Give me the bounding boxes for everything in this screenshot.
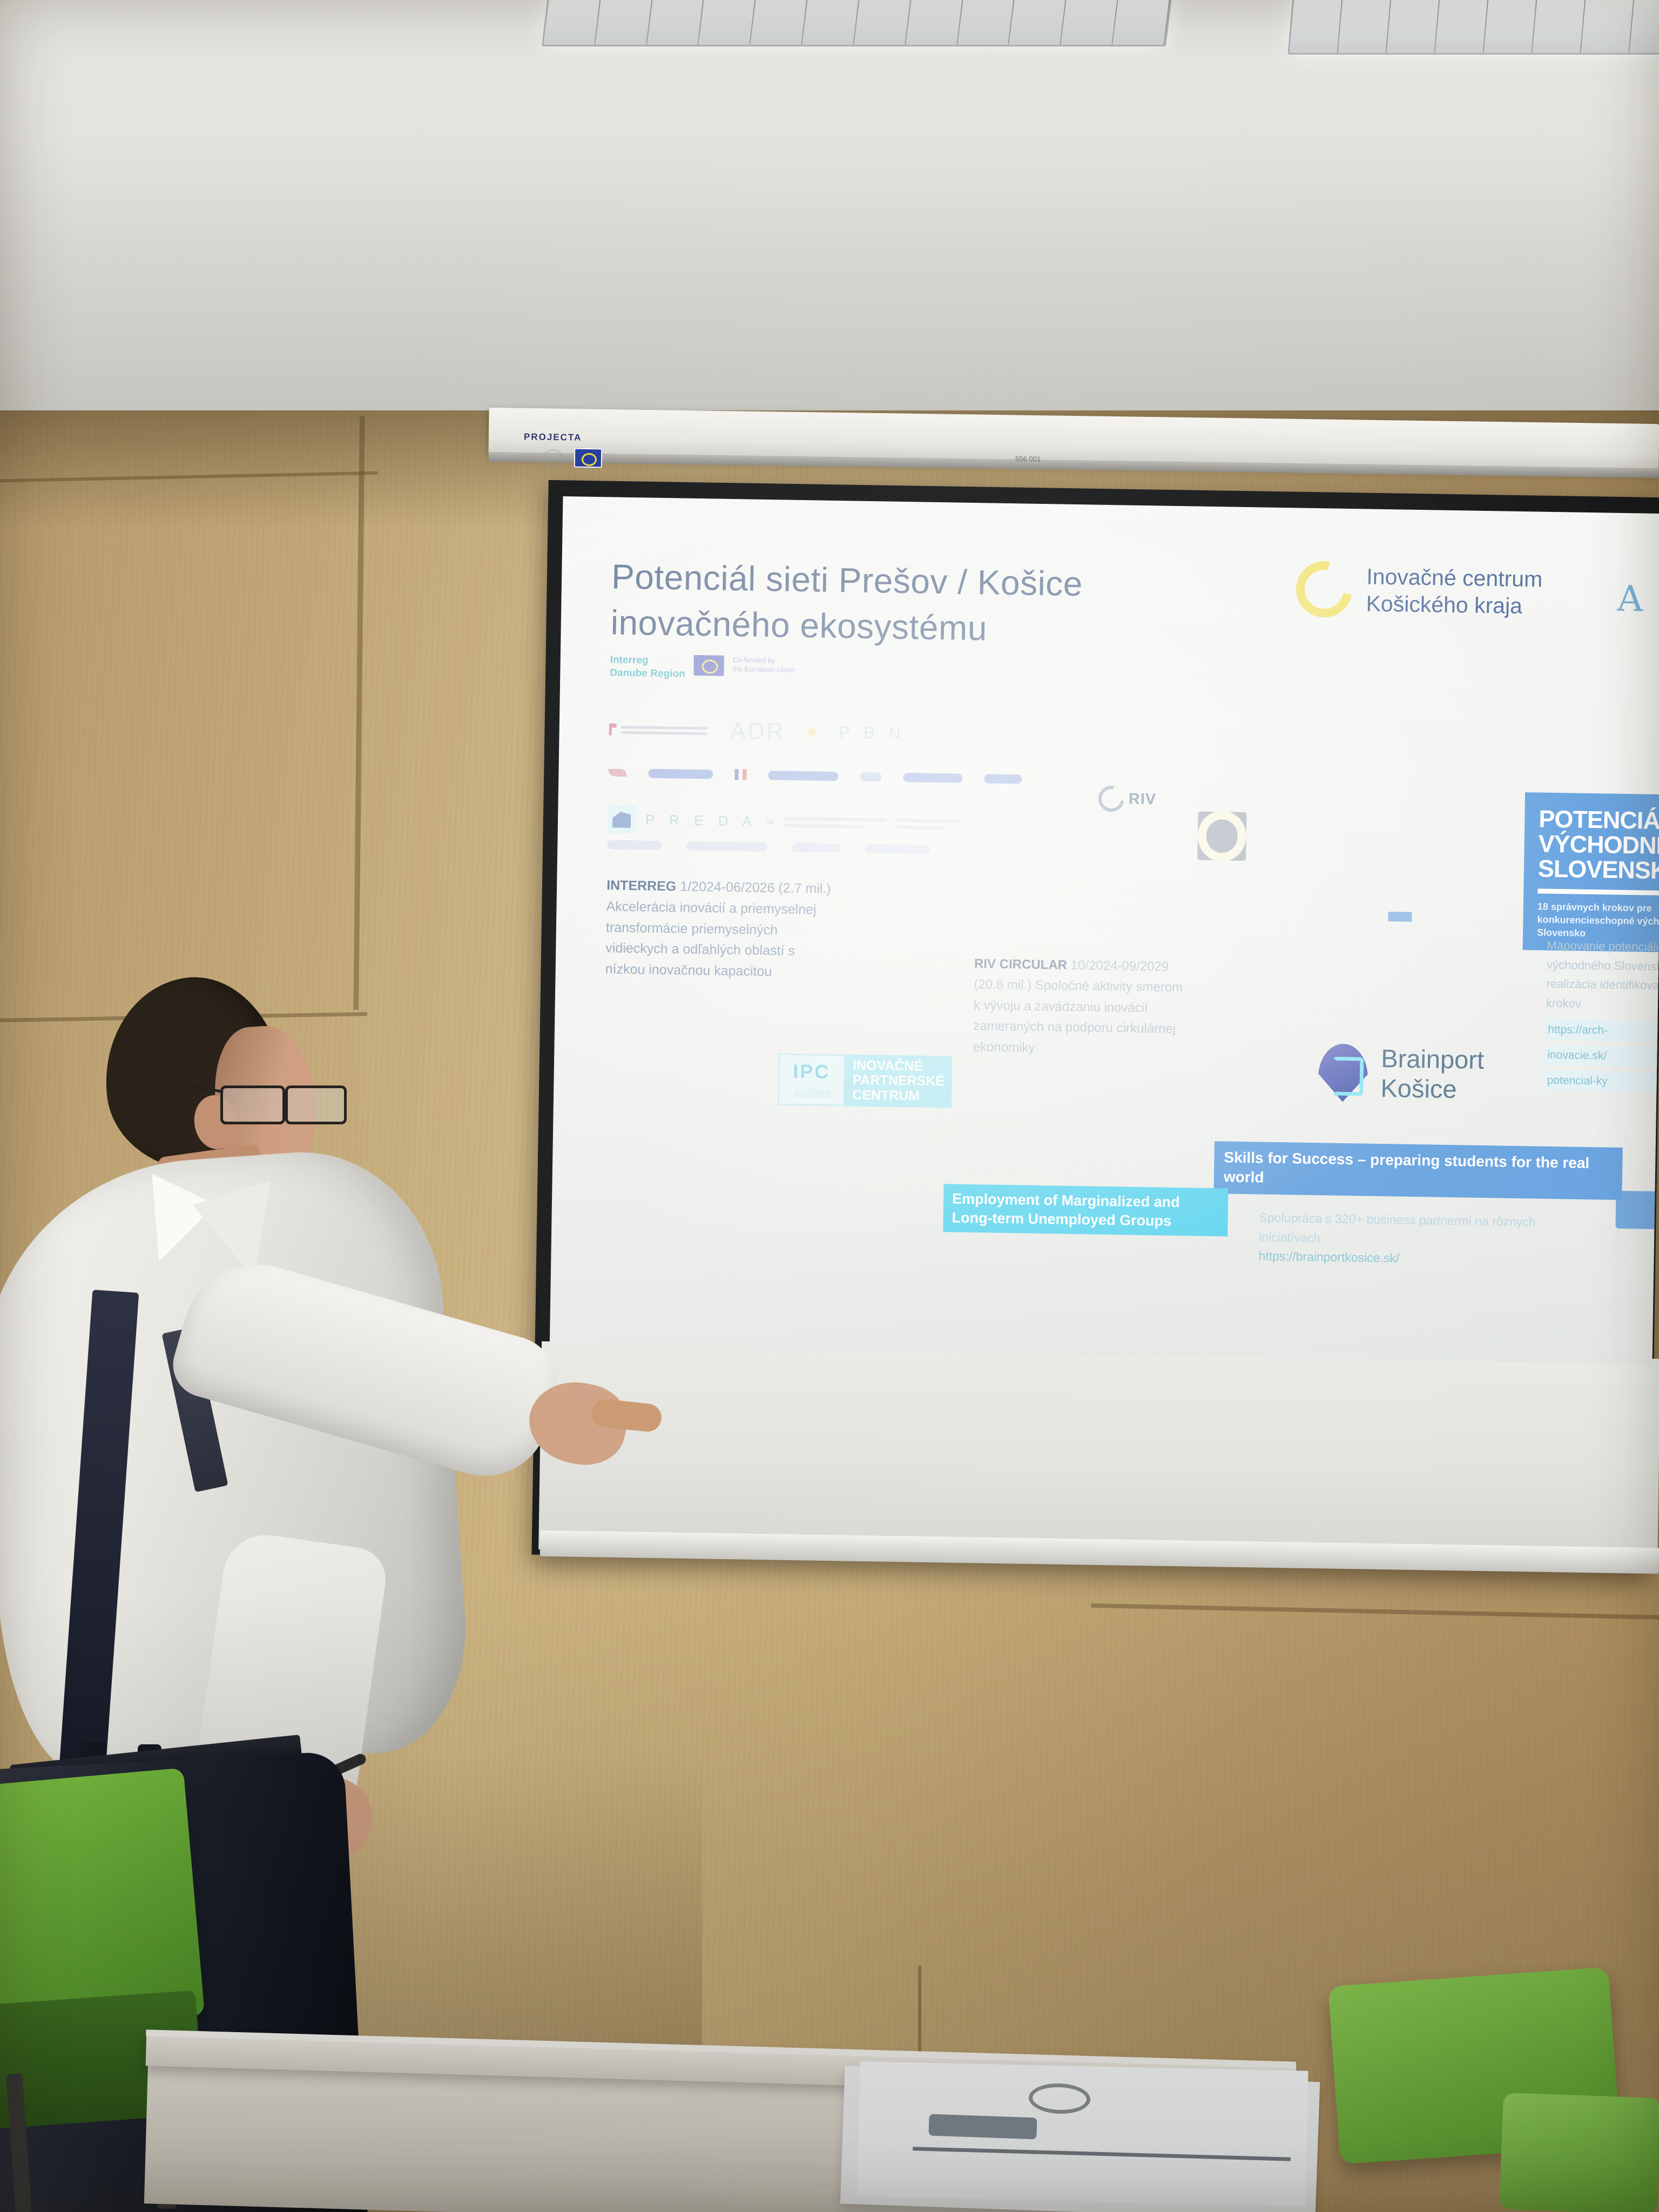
ipc-logo: IPC INOVAČNÉ PARTNERSKÉ CENTRUM <box>778 1053 953 1108</box>
map-pin-icon <box>1318 1043 1368 1102</box>
small-blue-chip <box>1388 912 1412 922</box>
projected-slide: Potenciál sieti Prešov / Košice inovačné… <box>550 496 1659 1364</box>
skills-for-success-banner: Skills for Success – preparing students … <box>1213 1141 1622 1200</box>
interreg-label-line1: Interreg <box>610 653 686 667</box>
brainport-kosice-logo: Brainport Košice <box>1318 1043 1484 1104</box>
partner-logo-row-2 <box>608 767 1094 785</box>
agency-mark-icon <box>609 723 617 735</box>
ceiling-shadow <box>0 135 1659 448</box>
potencial-divider <box>1537 888 1659 896</box>
riv-circular-label: RIV CIRCULAR <box>974 956 1067 973</box>
right-edge-chip <box>1615 1191 1659 1229</box>
interreg-project-body: 1/2024-06/2026 (2.7 mil.) Akcelerácia in… <box>605 879 831 980</box>
agency-logo <box>609 722 707 738</box>
ipc-mountain-icon <box>791 1084 831 1098</box>
flag-icon <box>734 769 746 780</box>
preda-mark-icon <box>608 805 636 833</box>
logo-pill <box>792 843 840 853</box>
riv-label: RIV <box>1129 790 1157 808</box>
ring-logo-icon <box>1197 812 1246 861</box>
partner-logo-row-1: ADR P B N <box>609 716 1020 749</box>
logo-pill <box>903 773 962 783</box>
potencial-description: Mapovanie potenciálu východného Slovensk… <box>1545 936 1659 1093</box>
logo-pill <box>607 840 661 850</box>
logo-pill <box>768 771 838 781</box>
ickk-crescent-icon <box>1285 550 1363 628</box>
swoosh-icon <box>608 768 626 777</box>
employment-banner-text: Employment of Marginalized and Long-term… <box>952 1190 1219 1231</box>
potencial-link-3[interactable]: potencial-ky <box>1545 1070 1659 1093</box>
ceiling-light-left <box>542 0 1174 46</box>
logo-pill <box>984 774 1022 784</box>
eu-flag-icon <box>574 448 602 468</box>
potencial-link-1[interactable]: https://arch- <box>1546 1019 1659 1042</box>
handout-logo <box>928 2114 1037 2140</box>
riv-circular-body: 10/2024-09/2029 (20.8 mil.) Spoločné akt… <box>973 958 1183 1055</box>
potencial-vychodneho-slovenska-box: POTENCIÁL VÝCHODNÉHO SLOVENSKA 18 správn… <box>1523 792 1659 953</box>
printed-handout-top-sheet <box>857 2061 1308 2206</box>
riv-circular-text: RIV CIRCULAR 10/2024-09/2029 (20.8 mil.)… <box>973 954 1190 1061</box>
brainport-line1: Brainport <box>1381 1044 1485 1075</box>
partner-logo-row-3 <box>607 840 1050 856</box>
ipc-abbr: IPC <box>793 1062 831 1082</box>
interreg-label-line2: Danube Region <box>610 666 685 680</box>
skills-banner-text: Skills for Success – preparing students … <box>1224 1148 1613 1193</box>
eu-flag-icon <box>694 655 725 676</box>
housing-side-label: 656 001 <box>1015 455 1041 463</box>
presentation-room-photo: PROJECTA 656 001 Potenciál sieti Prešov … <box>0 0 1659 2212</box>
ipc-line1: INOVAČNÉ <box>853 1058 945 1074</box>
preda-label: P R E D A <box>645 811 757 829</box>
adh-logo-partial: A <box>1617 578 1643 620</box>
logo-pill <box>686 841 767 852</box>
potencial-description-body: Mapovanie potenciálu východného Slovensk… <box>1546 939 1659 1010</box>
preda-logo: P R E D A sk <box>608 805 961 838</box>
eu-caption-line1: Co-funded by <box>733 656 795 666</box>
potencial-line3: SLOVENSKA <box>1538 856 1659 884</box>
slide-content: Potenciál sieti Prešov / Košice inovačné… <box>550 496 1659 1364</box>
inovacne-centrum-logo: Inovačné centrum Košického kraja <box>1296 561 1542 621</box>
logo-pill <box>648 768 713 779</box>
skills-subtext: Spolupráca s 320+ business partnermi na … <box>1258 1208 1594 1271</box>
interreg-danube-logo: Interreg Danube Region Co-funded by the … <box>610 653 1021 685</box>
partner-ghost-text <box>896 818 961 829</box>
chair-right-back <box>1499 2093 1659 2212</box>
interreg-project-text: INTERREG 1/2024-06/2026 (2.7 mil.) Akcel… <box>605 875 833 983</box>
eu-caption-line2: the European Union <box>733 665 795 675</box>
ipc-mark: IPC <box>778 1053 845 1106</box>
brainport-line2: Košice <box>1380 1073 1484 1104</box>
partner-ghost-text <box>784 817 887 828</box>
ceiling-light-right <box>1287 0 1659 55</box>
slide-title: Potenciál sieti Prešov / Košice inovačné… <box>610 554 1206 655</box>
logo-pill <box>865 844 930 854</box>
pbn-logo: P B N <box>839 724 905 743</box>
interreg-project-label: INTERREG <box>606 878 677 894</box>
riv-logo: RIV <box>1098 786 1156 813</box>
adr-logo: ADR <box>730 718 785 746</box>
ickk-label-line2: Košického kraja <box>1366 590 1542 619</box>
slide-title-line2: inovačného ekosystému <box>610 600 1205 655</box>
preda-superscript: sk <box>767 817 774 826</box>
skills-subtext-body: Spolupráca s 320+ business partnermi na … <box>1259 1210 1536 1244</box>
employment-banner: Employment of Marginalized and Long-term… <box>943 1184 1228 1236</box>
brainport-link[interactable]: https://brainportkosice.sk/ <box>1258 1247 1593 1271</box>
ipc-line2: PARTNERSKÉ <box>852 1074 945 1089</box>
logo-pill <box>860 772 881 781</box>
adr-dot-icon <box>807 728 816 737</box>
ipc-line3: CENTRUM <box>852 1088 945 1103</box>
potencial-link-2[interactable]: inovacie.sk/ <box>1545 1044 1659 1068</box>
riv-arc-icon <box>1093 781 1129 817</box>
projecta-brand-label: PROJECTA <box>524 431 582 443</box>
ickk-label-line1: Inovačné centrum <box>1366 563 1543 592</box>
glasses-icon <box>216 1080 346 1120</box>
